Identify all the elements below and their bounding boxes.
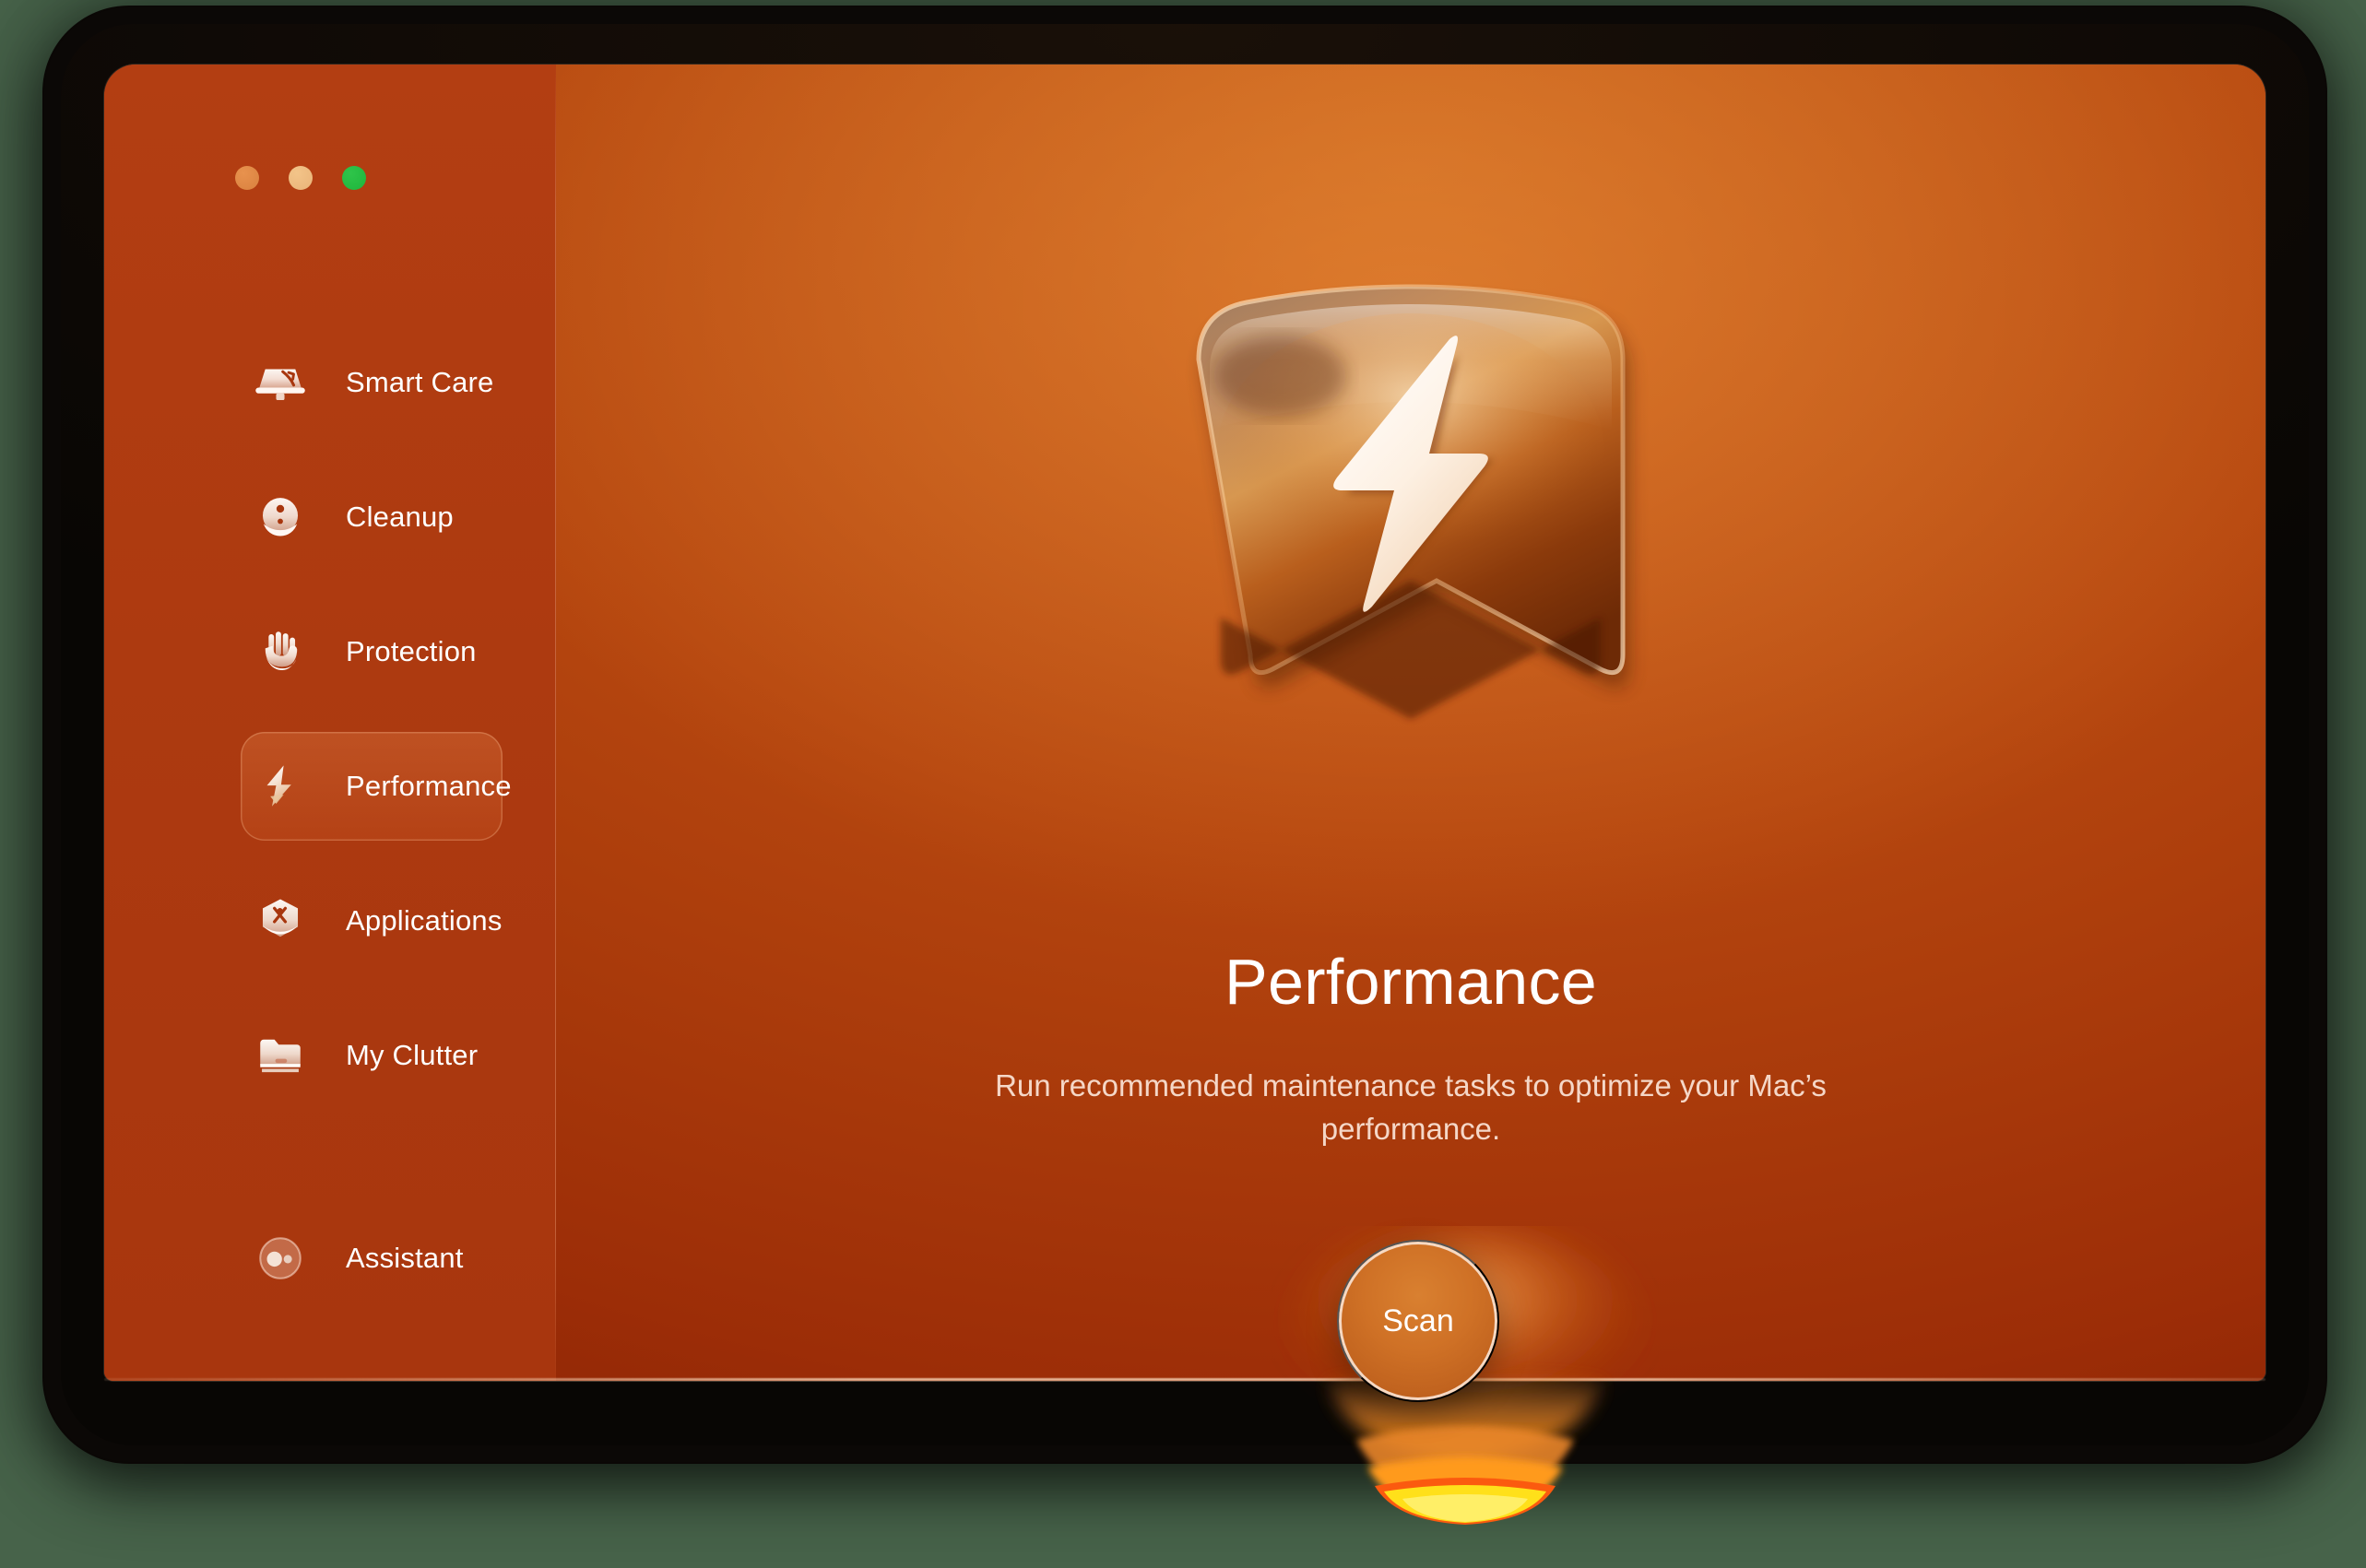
cleanup-icon bbox=[252, 489, 309, 546]
assistant-icon bbox=[252, 1230, 309, 1287]
sidebar-item-label: Applications bbox=[346, 904, 503, 937]
sidebar-item-label: Performance bbox=[346, 770, 512, 803]
sidebar-item-assistant[interactable]: Assistant bbox=[241, 1204, 503, 1313]
sidebar-item-my-clutter[interactable]: My Clutter bbox=[241, 1001, 503, 1110]
sidebar-footer: Assistant bbox=[104, 1204, 556, 1313]
sidebar-item-label: My Clutter bbox=[346, 1039, 478, 1072]
sidebar-item-applications[interactable]: Applications bbox=[241, 867, 503, 975]
sidebar-item-label: Protection bbox=[346, 635, 477, 668]
window-controls bbox=[235, 166, 366, 190]
app-window: Smart Care Cleanup bbox=[104, 65, 2265, 1381]
performance-hero-icon bbox=[1125, 230, 1697, 747]
main-content: Performance Run recommended maintenance … bbox=[556, 65, 2265, 1381]
sidebar-item-label: Smart Care bbox=[346, 366, 493, 399]
scan-button-label: Scan bbox=[1382, 1303, 1454, 1339]
smart-care-icon bbox=[252, 354, 309, 411]
protection-icon bbox=[252, 623, 309, 680]
window-bottom-edge bbox=[104, 1378, 2265, 1381]
sidebar-item-smart-care[interactable]: Smart Care bbox=[241, 328, 503, 437]
sidebar: Smart Care Cleanup bbox=[104, 65, 556, 1381]
sidebar-item-protection[interactable]: Protection bbox=[241, 597, 503, 706]
close-button[interactable] bbox=[235, 166, 259, 190]
performance-icon bbox=[252, 758, 309, 815]
my-clutter-icon bbox=[252, 1027, 309, 1084]
zoom-button[interactable] bbox=[342, 166, 366, 190]
minimize-button[interactable] bbox=[289, 166, 313, 190]
page-subtitle: Run recommended maintenance tasks to opt… bbox=[950, 1065, 1872, 1151]
sidebar-item-performance[interactable]: Performance bbox=[241, 732, 503, 841]
scan-button[interactable]: Scan bbox=[1337, 1240, 1499, 1402]
applications-icon bbox=[252, 892, 309, 949]
sidebar-nav: Smart Care Cleanup bbox=[104, 328, 556, 1136]
page-title: Performance bbox=[556, 945, 2265, 1019]
sidebar-item-cleanup[interactable]: Cleanup bbox=[241, 463, 503, 572]
sidebar-item-label: Assistant bbox=[346, 1242, 464, 1275]
sidebar-item-label: Cleanup bbox=[346, 501, 454, 534]
